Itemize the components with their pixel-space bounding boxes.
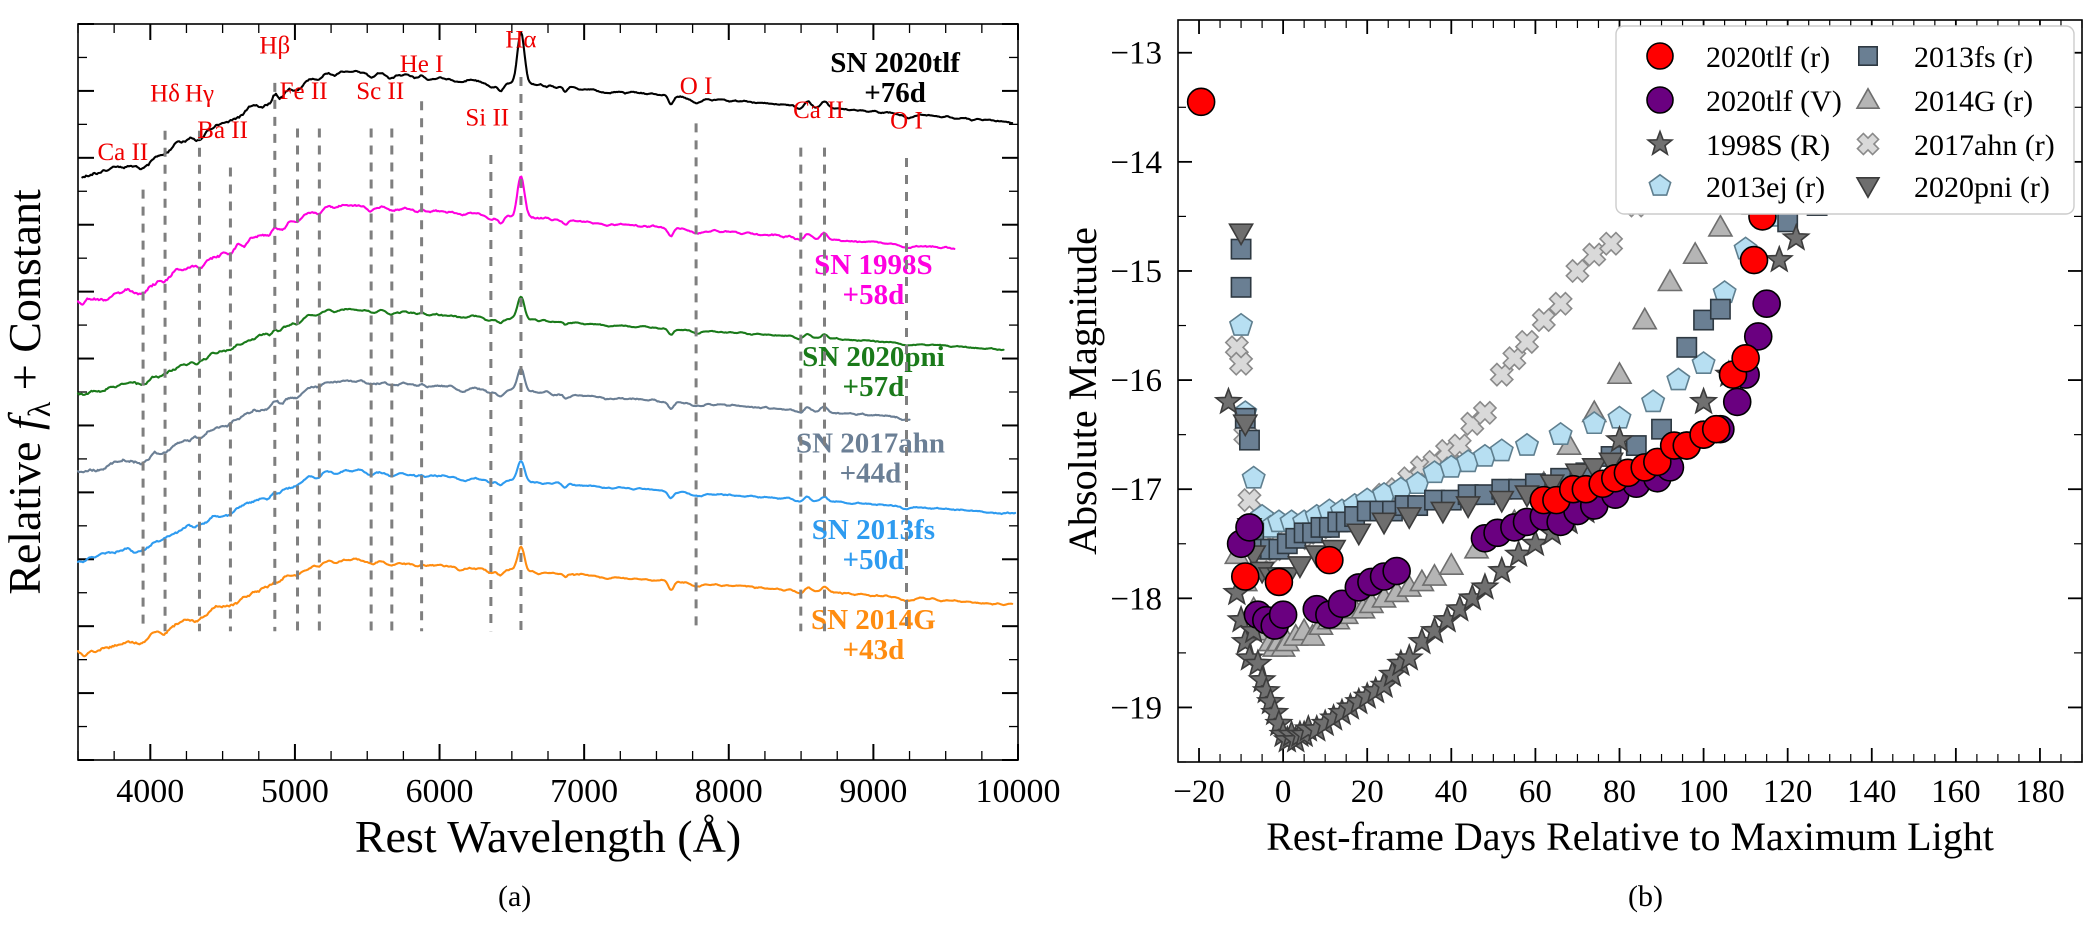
data-point bbox=[1440, 554, 1463, 574]
data-point bbox=[1667, 368, 1689, 389]
panel-a-xtick-label: 4000 bbox=[116, 773, 184, 810]
data-point bbox=[1709, 216, 1732, 236]
spectrum-label-name: SN 1998S bbox=[814, 249, 932, 281]
panel-b-xtick-label: 20 bbox=[1351, 774, 1384, 810]
line-marker-label: Fe II bbox=[280, 78, 328, 105]
panel-b-ytick-label: −16 bbox=[1110, 363, 1162, 399]
panel-b-ytick-label: −17 bbox=[1110, 472, 1162, 508]
data-point bbox=[1243, 467, 1265, 488]
series-1998sr bbox=[1216, 176, 1872, 751]
data-point bbox=[1383, 558, 1410, 585]
line-marker-label: Ca II bbox=[793, 97, 844, 124]
data-point bbox=[1566, 260, 1588, 282]
spectrum-label-phase: +58d bbox=[843, 279, 905, 311]
figure-root: 40005000600070008000900010000Rest Wavele… bbox=[0, 0, 2100, 937]
data-point bbox=[1549, 423, 1571, 444]
data-point bbox=[1677, 338, 1696, 357]
panel-b-ytick-label: −19 bbox=[1110, 690, 1162, 726]
data-point bbox=[1188, 88, 1215, 115]
data-point bbox=[1236, 514, 1263, 541]
panel-a-xtick-label: 8000 bbox=[695, 773, 763, 810]
line-marker-label: O I bbox=[890, 108, 923, 135]
legend-label: 2020tlf (V) bbox=[1706, 85, 1842, 118]
line-marker-label: Ca II bbox=[97, 139, 148, 166]
data-point bbox=[1240, 430, 1259, 449]
panel-b-ytick-label: −14 bbox=[1110, 145, 1162, 181]
data-point bbox=[1533, 309, 1555, 331]
legend-label: 2020pni (r) bbox=[1914, 171, 2050, 204]
legend-label: 2013ej (r) bbox=[1706, 171, 1825, 204]
spectrum-label-phase: +50d bbox=[843, 544, 905, 576]
panel-a-ylabel: Relative fλ + Constant bbox=[0, 189, 57, 595]
data-point bbox=[1489, 558, 1514, 582]
data-point bbox=[1270, 601, 1297, 628]
line-marker-label: Hδ bbox=[150, 80, 180, 107]
data-point bbox=[1608, 407, 1630, 428]
data-point bbox=[1608, 363, 1631, 383]
data-point bbox=[1372, 513, 1395, 533]
data-point bbox=[1230, 314, 1252, 335]
data-point bbox=[1431, 502, 1454, 522]
data-point bbox=[1550, 293, 1572, 315]
panel-b-ytick-label: −18 bbox=[1110, 581, 1162, 617]
panel-b-xtick-label: 80 bbox=[1603, 774, 1636, 810]
legend-marker-square-icon bbox=[1859, 47, 1877, 65]
panel-b-xtick-label: 40 bbox=[1435, 774, 1468, 810]
spectrum-label-phase: +57d bbox=[843, 371, 905, 403]
data-point bbox=[1741, 247, 1768, 274]
panel-a-line-identifications: Ca IIHδHγBa IIHβFe IISc IIHe ISi IIHαO I… bbox=[97, 27, 922, 632]
series-2020tlfv bbox=[1228, 290, 1781, 639]
data-point bbox=[1265, 568, 1292, 595]
data-point bbox=[1231, 278, 1250, 297]
legend-label: 2020tlf (r) bbox=[1706, 41, 1830, 74]
panel-a-caption: (a) bbox=[498, 880, 531, 914]
panel-b-xtick-label: 180 bbox=[2015, 774, 2065, 810]
panel-b-svg: −20020406080100120140160180−19−18−17−16−… bbox=[1060, 0, 2100, 937]
panel-b-xtick-label: 100 bbox=[1679, 774, 1729, 810]
panel-b-lightcurves: −20020406080100120140160180−19−18−17−16−… bbox=[1060, 0, 2100, 937]
legend-label: 2014G (r) bbox=[1914, 85, 2033, 118]
spectrum-trace bbox=[78, 177, 954, 305]
line-marker-label: Hα bbox=[505, 27, 536, 54]
panel-b-xtick-label: 60 bbox=[1519, 774, 1552, 810]
data-point bbox=[1767, 247, 1792, 271]
line-marker-label: Si II bbox=[465, 105, 509, 132]
data-point bbox=[1658, 270, 1681, 290]
line-marker-label: Hβ bbox=[259, 32, 290, 59]
data-point bbox=[1684, 243, 1707, 263]
panel-b-ytick-label: −13 bbox=[1110, 36, 1162, 72]
panel-b-xtick-label: 0 bbox=[1275, 774, 1292, 810]
panel-a-xlabel: Rest Wavelength (Å) bbox=[355, 811, 741, 862]
spectrum-label-name: SN 2020tlf bbox=[830, 47, 960, 79]
panel-a-xtick-label: 10000 bbox=[976, 773, 1061, 810]
spectrum-label-name: SN 2017ahn bbox=[796, 427, 945, 459]
data-point bbox=[1711, 300, 1730, 319]
legend-marker-circle-icon bbox=[1647, 87, 1673, 113]
panel-b-xtick-label: 140 bbox=[1847, 774, 1897, 810]
data-point bbox=[1316, 547, 1343, 574]
panel-b-ytick-label: −15 bbox=[1110, 254, 1162, 290]
spectrum-label-phase: +43d bbox=[843, 634, 905, 666]
legend-label: 1998S (R) bbox=[1706, 129, 1830, 162]
data-point bbox=[1642, 390, 1664, 411]
data-point bbox=[1347, 524, 1370, 544]
data-point bbox=[1516, 331, 1538, 353]
legend-label: 2017ahn (r) bbox=[1914, 129, 2055, 162]
data-point bbox=[1703, 416, 1730, 443]
panel-a-svg: 40005000600070008000900010000Rest Wavele… bbox=[0, 0, 1060, 937]
line-marker-label: He I bbox=[400, 51, 444, 78]
data-point bbox=[1753, 290, 1780, 317]
panel-a-xtick-label: 9000 bbox=[839, 773, 907, 810]
panel-a-xtick-label: 5000 bbox=[261, 773, 329, 810]
data-point bbox=[1600, 233, 1622, 255]
data-point bbox=[1516, 434, 1538, 455]
legend-label: 2013fs (r) bbox=[1914, 41, 2033, 74]
panel-b-legend[interactable]: 2020tlf (r)2020tlf (V)1998S (R)2013ej (r… bbox=[1616, 26, 2074, 214]
panel-b-xtick-label: 160 bbox=[1931, 774, 1981, 810]
panel-b-xlabel: Rest-frame Days Relative to Maximum Ligh… bbox=[1266, 814, 1994, 859]
panel-a-xtick-label: 6000 bbox=[406, 773, 474, 810]
spectrum-label-phase: +76d bbox=[864, 77, 926, 109]
panel-b-ylabel: Absolute Magnitude bbox=[1060, 227, 1105, 555]
panel-a-xtick-label: 7000 bbox=[550, 773, 618, 810]
spectrum-label-name: SN 2013fs bbox=[812, 514, 935, 546]
line-marker-label: Ba II bbox=[197, 117, 248, 144]
panel-b-caption: (b) bbox=[1628, 880, 1663, 914]
spectrum-label-name: SN 2014G bbox=[811, 604, 936, 636]
data-point bbox=[1633, 308, 1656, 328]
spectrum-label-phase: +44d bbox=[840, 457, 902, 489]
data-point bbox=[1491, 439, 1513, 460]
panel-a-spectra: 40005000600070008000900010000Rest Wavele… bbox=[0, 0, 1060, 937]
data-point bbox=[1691, 389, 1716, 413]
spectrum-trace bbox=[78, 368, 910, 472]
panel-b-xtick-label: 120 bbox=[1763, 774, 1813, 810]
line-marker-label: O I bbox=[680, 73, 713, 100]
legend-marker-circle-icon bbox=[1647, 43, 1673, 69]
data-point bbox=[1732, 345, 1759, 372]
line-marker-label: Hγ bbox=[185, 80, 214, 107]
panel-b-xtick-label: −20 bbox=[1173, 774, 1225, 810]
data-point bbox=[1724, 388, 1751, 415]
line-marker-label: Sc II bbox=[356, 78, 404, 105]
data-point bbox=[1232, 563, 1259, 590]
